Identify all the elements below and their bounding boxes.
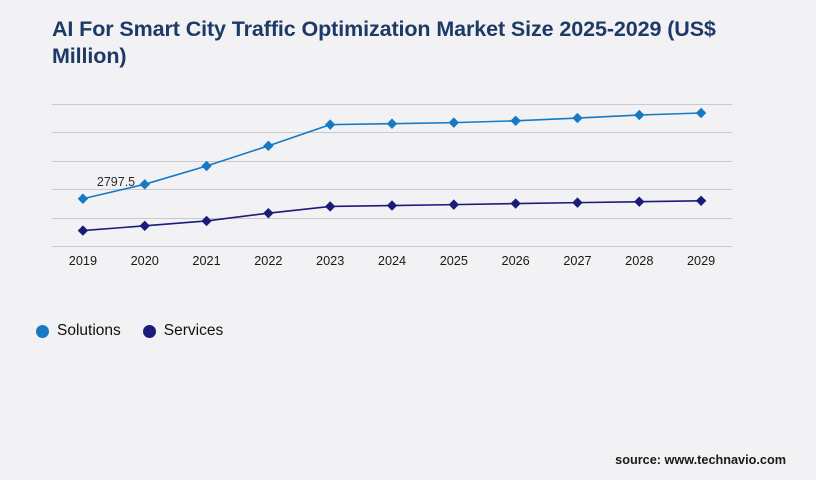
plot-area: 2797.5	[52, 104, 732, 246]
x-axis-tick-2028: 2028	[625, 254, 653, 268]
data-point-marker[interactable]	[140, 221, 150, 231]
source-note: source: www.technavio.com	[615, 453, 786, 467]
series-layer	[52, 104, 732, 246]
data-point-marker[interactable]	[263, 208, 273, 218]
chart-title: AI For Smart City Traffic Optimization M…	[52, 16, 752, 70]
x-axis-tick-2023: 2023	[316, 254, 344, 268]
data-point-marker[interactable]	[78, 194, 88, 204]
x-axis-tick-2024: 2024	[378, 254, 406, 268]
x-axis-tick-2027: 2027	[563, 254, 591, 268]
data-point-marker[interactable]	[387, 200, 397, 210]
chart-title-block: AI For Smart City Traffic Optimization M…	[52, 16, 752, 70]
x-axis-tick-2019: 2019	[69, 254, 97, 268]
data-point-marker[interactable]	[263, 141, 273, 151]
data-point-marker[interactable]	[140, 179, 150, 189]
chart-legend: SolutionsServices	[36, 322, 223, 340]
data-point-marker[interactable]	[634, 110, 644, 120]
legend-item-solutions[interactable]: Solutions	[36, 322, 121, 340]
data-point-marker[interactable]	[572, 113, 582, 123]
data-point-marker[interactable]	[325, 201, 335, 211]
data-point-marker[interactable]	[510, 116, 520, 126]
legend-swatch-icon	[143, 325, 156, 338]
data-point-marker[interactable]	[696, 196, 706, 206]
legend-swatch-icon	[36, 325, 49, 338]
data-point-marker[interactable]	[201, 216, 211, 226]
x-axis-tick-2025: 2025	[440, 254, 468, 268]
data-point-marker[interactable]	[449, 199, 459, 209]
data-label: 2797.5	[97, 175, 135, 189]
data-point-marker[interactable]	[696, 108, 706, 118]
data-point-marker[interactable]	[449, 117, 459, 127]
x-axis-tick-2026: 2026	[502, 254, 530, 268]
data-point-marker[interactable]	[78, 225, 88, 235]
x-axis-tick-2020: 2020	[131, 254, 159, 268]
data-point-marker[interactable]	[387, 118, 397, 128]
legend-item-services[interactable]: Services	[143, 322, 223, 340]
x-axis-tick-2022: 2022	[254, 254, 282, 268]
x-axis-tick-2021: 2021	[192, 254, 220, 268]
legend-label: Solutions	[57, 322, 121, 340]
data-point-marker[interactable]	[201, 161, 211, 171]
data-point-marker[interactable]	[510, 198, 520, 208]
data-point-marker[interactable]	[325, 119, 335, 129]
data-point-marker[interactable]	[634, 197, 644, 207]
x-axis: 2019202020212022202320242025202620272028…	[52, 254, 732, 274]
gridline	[52, 246, 732, 247]
data-point-marker[interactable]	[572, 197, 582, 207]
chart-container: AI For Smart City Traffic Optimization M…	[0, 0, 816, 480]
legend-label: Services	[164, 322, 223, 340]
x-axis-tick-2029: 2029	[687, 254, 715, 268]
